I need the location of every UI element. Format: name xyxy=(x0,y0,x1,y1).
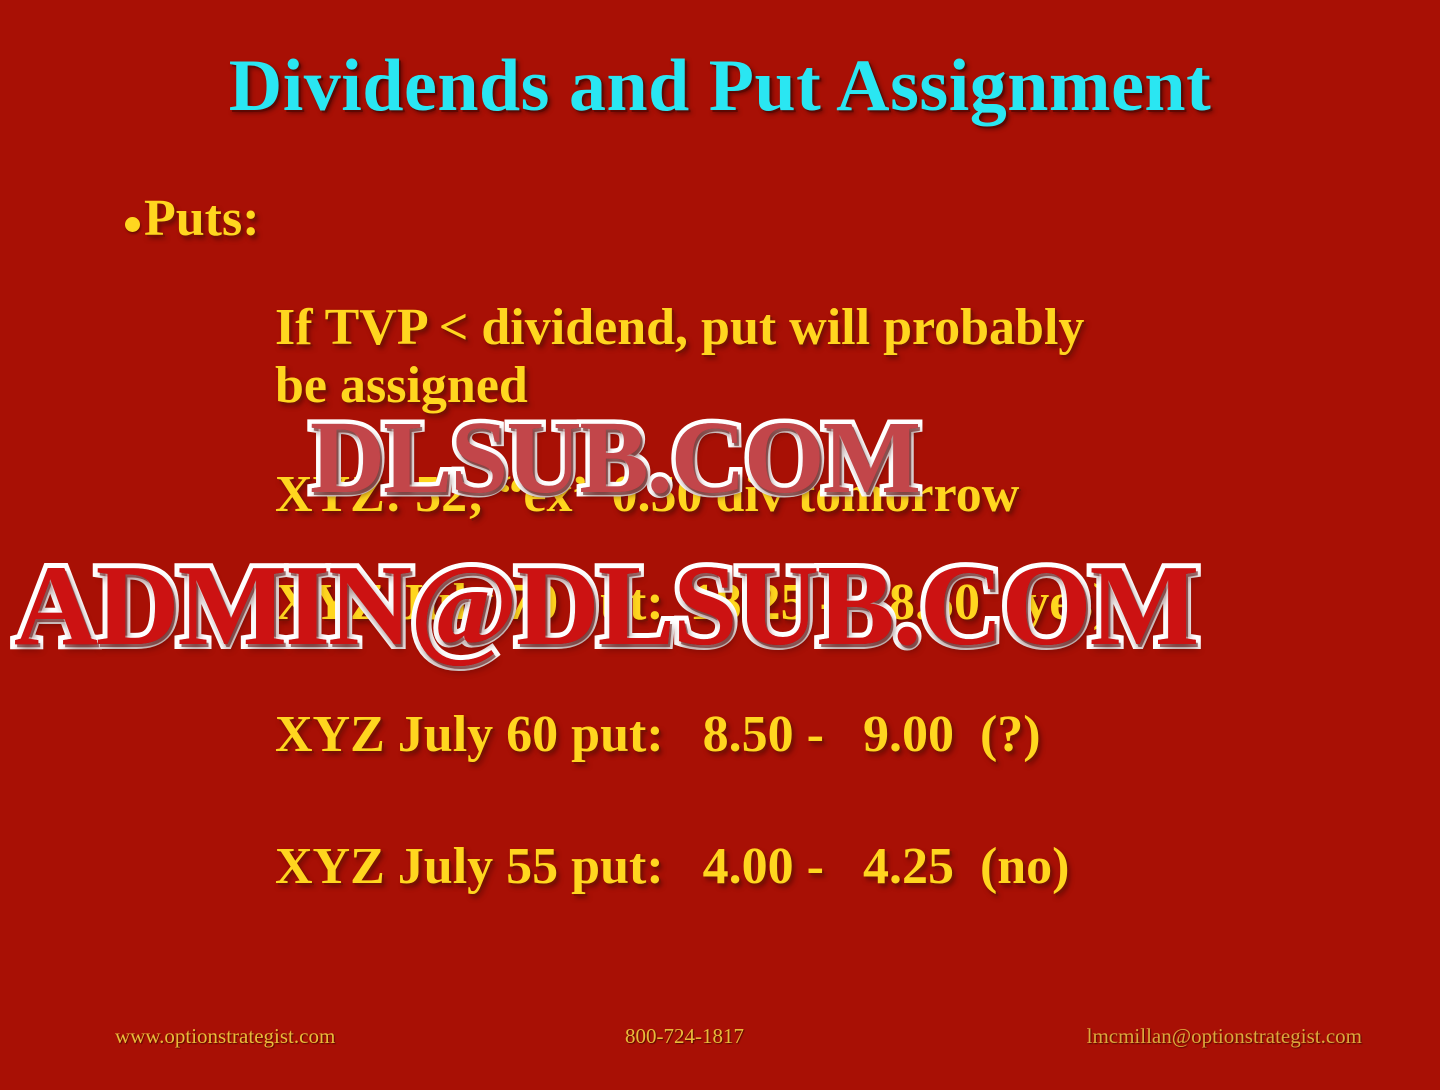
bullet-item-label: Puts: xyxy=(144,190,260,247)
body-line-1: If TVP < dividend, put will probably xyxy=(275,299,1440,357)
footer-email: lmcmillan@optionstrategist.com xyxy=(1087,1024,1362,1049)
footer-website: www.optionstrategist.com xyxy=(115,1024,335,1049)
footer-phone: 800-724-1817 xyxy=(625,1024,744,1049)
bullet-item-puts: Puts: xyxy=(0,190,1440,247)
body-line-2: be assigned xyxy=(275,357,1440,415)
page-title: Dividends and Put Assignment xyxy=(0,44,1440,129)
sub-line-group: If TVP < dividend, put will probably be … xyxy=(0,299,1440,896)
slide-canvas: Dividends and Put Assignment Puts: If TV… xyxy=(0,0,1440,1090)
body-line-4: XYZ July 70 put: 18.25 - 18.50 (yes) xyxy=(275,574,1440,632)
body-line-5: XYZ July 60 put: 8.50 - 9.00 (?) xyxy=(275,706,1440,764)
body-line-3: XYZ: 52; “ex” 0.50 div tomorrow xyxy=(275,466,1440,524)
slide-body: Puts: If TVP < dividend, put will probab… xyxy=(0,190,1440,897)
body-line-6: XYZ July 55 put: 4.00 - 4.25 (no) xyxy=(275,838,1440,896)
slide-footer: www.optionstrategist.com 800-724-1817 lm… xyxy=(0,1024,1440,1054)
bullet-dot-icon xyxy=(125,217,140,232)
